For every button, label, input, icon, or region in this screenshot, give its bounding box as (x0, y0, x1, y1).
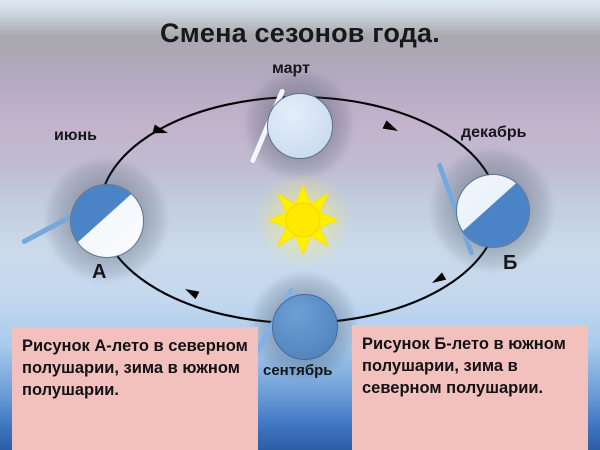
orbit-arrow-bottom-right (430, 272, 446, 286)
sun-group (268, 185, 338, 255)
planet-march (267, 93, 333, 159)
caption-box-a: Рисунок А-лето в северном полушарии, зим… (12, 327, 258, 450)
planet-june-terminator (70, 184, 144, 258)
planet-december-terminator (456, 174, 530, 248)
planet-september (272, 294, 338, 360)
orbit-arrow-bottom-left (183, 285, 199, 299)
planet-december (456, 174, 530, 248)
label-month-june: июнь (54, 127, 97, 145)
orbit-arrow-top-right (383, 120, 400, 135)
sun-icon (268, 185, 338, 255)
caption-box-b: Рисунок Б-лето в южном полушарии, зима в… (352, 325, 588, 450)
slide-canvas: Смена сезонов года. март (0, 0, 600, 450)
label-point-b: Б (503, 252, 517, 275)
planet-june (70, 184, 144, 258)
label-month-september: сентябрь (263, 362, 333, 379)
label-month-december: декабрь (461, 124, 526, 142)
label-point-a: А (92, 261, 106, 284)
label-month-march: март (272, 60, 310, 78)
